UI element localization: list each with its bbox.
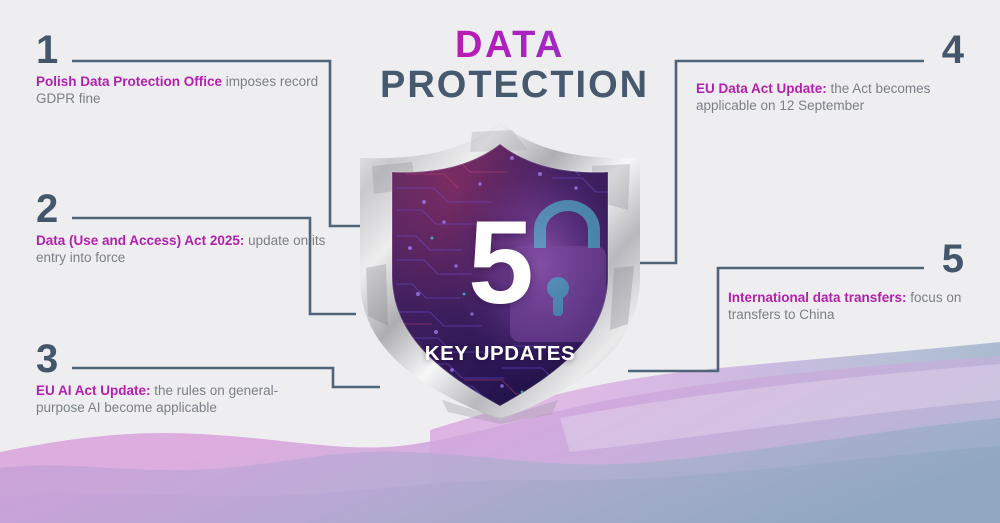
- item-lead-1: Polish Data Protection Office: [36, 74, 222, 89]
- shield-emblem: 5 KEY UPDATES: [352, 118, 648, 424]
- shield-caption: KEY UPDATES: [352, 342, 648, 366]
- item-text-4: EU Data Act Update: the Act becomes appl…: [696, 80, 964, 114]
- item-number-3: 3: [36, 341, 326, 378]
- title-line-protection: PROTECTION: [380, 66, 640, 104]
- item-text-2: Data (Use and Access) Act 2025: update o…: [36, 232, 336, 266]
- list-item-5: 5 International data transfers: focus on…: [728, 241, 964, 323]
- infographic-canvas: DATA PROTECTION: [0, 0, 1000, 523]
- item-number-1: 1: [36, 32, 336, 69]
- item-lead-2: Data (Use and Access) Act 2025:: [36, 233, 244, 248]
- list-item-3: 3 EU AI Act Update: the rules on general…: [36, 341, 326, 416]
- item-lead-5: International data transfers:: [728, 290, 907, 305]
- shield-count: 5: [352, 204, 648, 322]
- list-item-1: 1 Polish Data Protection Office imposes …: [36, 32, 336, 107]
- item-text-1: Polish Data Protection Office imposes re…: [36, 73, 336, 107]
- item-number-5: 5: [942, 241, 964, 278]
- item-lead-3: EU AI Act Update:: [36, 383, 151, 398]
- title-line-data: DATA: [380, 26, 640, 64]
- item-number-2: 2: [36, 191, 336, 228]
- item-text-5: International data transfers: focus on t…: [728, 289, 964, 323]
- item-text-3: EU AI Act Update: the rules on general-p…: [36, 382, 326, 416]
- list-item-4: 4 EU Data Act Update: the Act becomes ap…: [696, 32, 964, 114]
- item-number-4: 4: [942, 32, 964, 69]
- page-title: DATA PROTECTION: [380, 26, 640, 104]
- item-lead-4: EU Data Act Update:: [696, 81, 827, 96]
- list-item-2: 2 Data (Use and Access) Act 2025: update…: [36, 191, 336, 266]
